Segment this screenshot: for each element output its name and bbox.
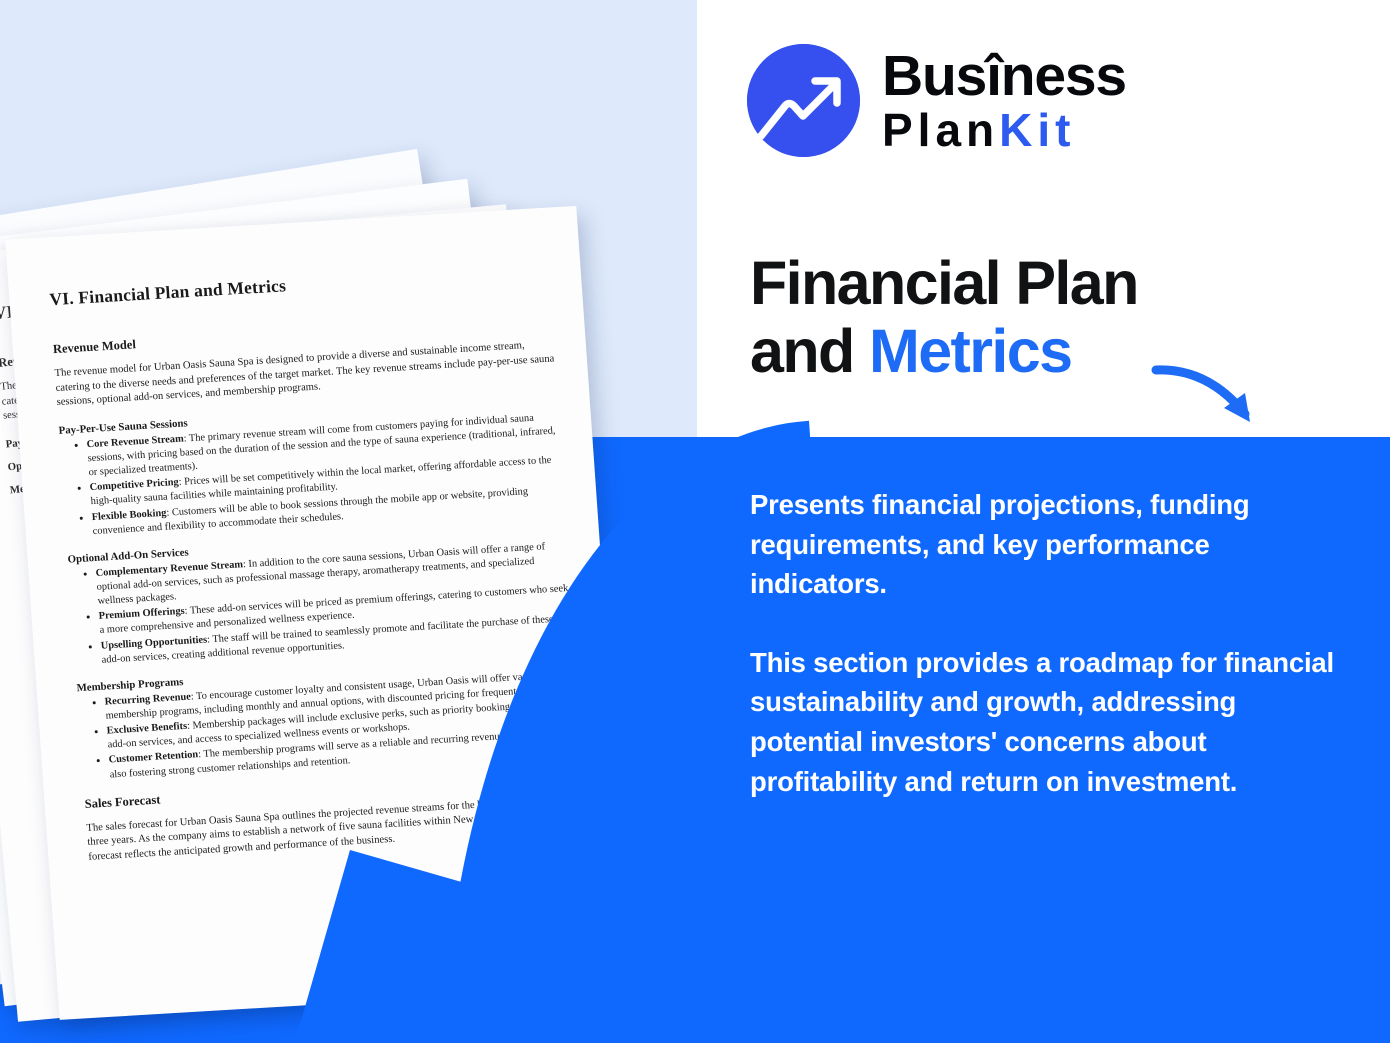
bullet-term: Exclusive Benefits [106, 721, 187, 737]
trend-arrow-chart-icon [747, 44, 860, 157]
page-title-line1: Financial Plan [750, 249, 1138, 317]
logo-word-plan: Plan [882, 104, 999, 156]
description-paragraph-1: Presents financial projections, funding … [750, 485, 1350, 604]
paragraph-spacer [750, 604, 1350, 643]
logo-line-business: Busîness [882, 49, 1126, 104]
slide-canvas: VI. Financial Plan and Metrics Revenue M… [0, 0, 1390, 1043]
bullet-term: Recurring Revenue [104, 691, 191, 707]
description-block: Presents financial projections, funding … [750, 485, 1350, 801]
bullet-term: Flexible Booking [91, 507, 166, 522]
brand-logo: Busîness PlanKit [747, 44, 1126, 157]
description-paragraph-2: This section provides a roadmap for fina… [750, 643, 1350, 801]
document-content: VI. Financial Plan and Metrics Revenue M… [49, 260, 589, 880]
document-paper-stack: VI. Financial Plan and Metrics Revenue M… [0, 150, 720, 1010]
curved-arrow-down-right-icon [1150, 358, 1280, 433]
logo-line-plan-kit: PlanKit [882, 108, 1126, 152]
logo-word-kit: Kit [999, 104, 1075, 156]
page-title-line2-accent: Metrics [869, 317, 1071, 385]
paper-sheet-front: VI. Financial Plan and Metrics Revenue M… [5, 206, 631, 1020]
page-title-line2-plain: and [750, 317, 869, 385]
doc-title: VI. Financial Plan and Metrics [49, 260, 550, 311]
logo-wordmark: Busîness PlanKit [882, 49, 1126, 152]
